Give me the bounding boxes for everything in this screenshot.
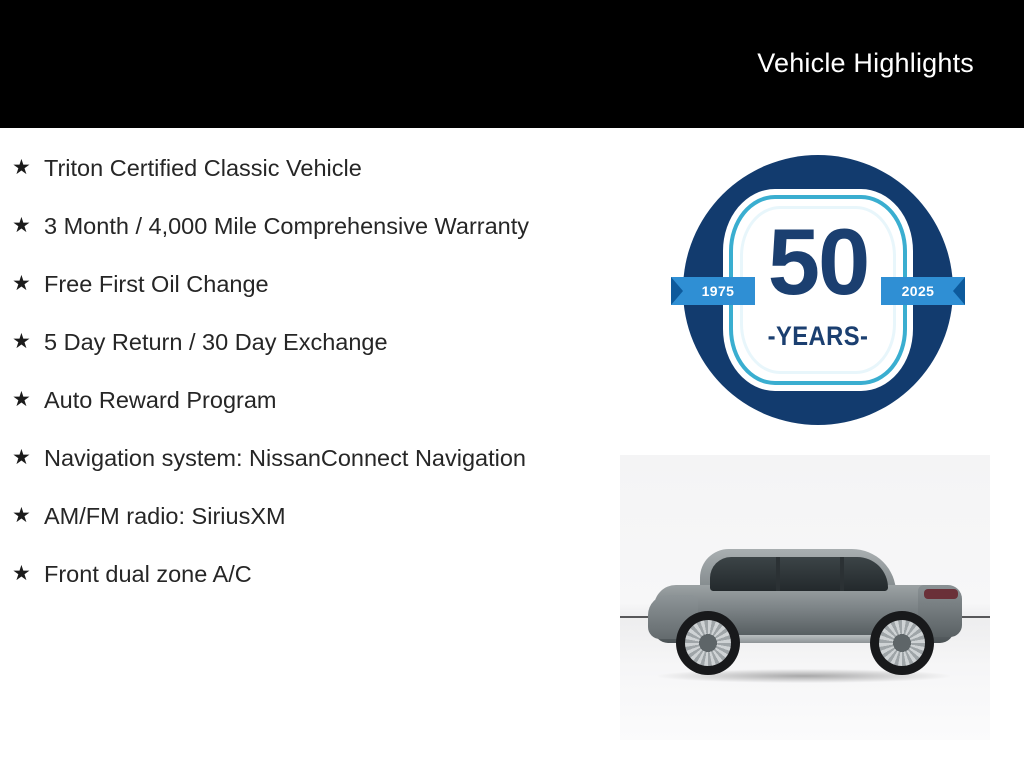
vehicle-rear-wheel	[870, 611, 934, 675]
star-icon: ★	[12, 324, 44, 360]
vehicle-illustration	[648, 543, 962, 683]
page-title: Vehicle Highlights	[757, 50, 974, 77]
list-item: ★ Free First Oil Change	[0, 266, 600, 302]
badge-year-start: 1975	[671, 277, 755, 305]
list-item-label: Front dual zone A/C	[44, 556, 544, 592]
anniversary-badge: 1975 2025 50 -YEARS-	[683, 155, 953, 425]
list-item-label: Auto Reward Program	[44, 382, 544, 418]
star-icon: ★	[12, 266, 44, 302]
list-item: ★ 5 Day Return / 30 Day Exchange	[0, 324, 600, 360]
list-item: ★ 3 Month / 4,000 Mile Comprehensive War…	[0, 208, 600, 244]
vehicle-b-pillar	[776, 557, 780, 591]
star-icon: ★	[12, 498, 44, 534]
list-item-label: 3 Month / 4,000 Mile Comprehensive Warra…	[44, 208, 544, 244]
badge-year-end: 2025	[881, 277, 965, 305]
badge-years-label: -YEARS-	[743, 323, 893, 350]
list-item-label: Free First Oil Change	[44, 266, 544, 302]
vehicle-side-profile-photo	[620, 455, 990, 740]
vehicle-highlights-list: ★ Triton Certified Classic Vehicle ★ 3 M…	[0, 128, 600, 614]
badge-ribbon-left: 1975	[671, 277, 755, 305]
star-icon: ★	[12, 150, 44, 186]
star-icon: ★	[12, 556, 44, 592]
star-icon: ★	[12, 208, 44, 244]
list-item-label: Navigation system: NissanConnect Navigat…	[44, 440, 544, 476]
star-icon: ★	[12, 382, 44, 418]
list-item: ★ Triton Certified Classic Vehicle	[0, 150, 600, 186]
list-item: ★ Navigation system: NissanConnect Navig…	[0, 440, 600, 476]
star-icon: ★	[12, 440, 44, 476]
badge-ribbon-right: 2025	[881, 277, 965, 305]
vehicle-front-wheel	[676, 611, 740, 675]
vehicle-c-pillar	[840, 557, 844, 591]
list-item: ★ Auto Reward Program	[0, 382, 600, 418]
list-item: ★ AM/FM radio: SiriusXM	[0, 498, 600, 534]
vehicle-window-glass	[710, 557, 888, 591]
header-bar: Vehicle Highlights	[0, 0, 1024, 128]
vehicle-taillight	[924, 589, 958, 599]
list-item-label: Triton Certified Classic Vehicle	[44, 150, 544, 186]
list-item-label: AM/FM radio: SiriusXM	[44, 498, 544, 534]
list-item: ★ Front dual zone A/C	[0, 556, 600, 592]
badge-number: 50	[733, 215, 903, 309]
list-item-label: 5 Day Return / 30 Day Exchange	[44, 324, 544, 360]
